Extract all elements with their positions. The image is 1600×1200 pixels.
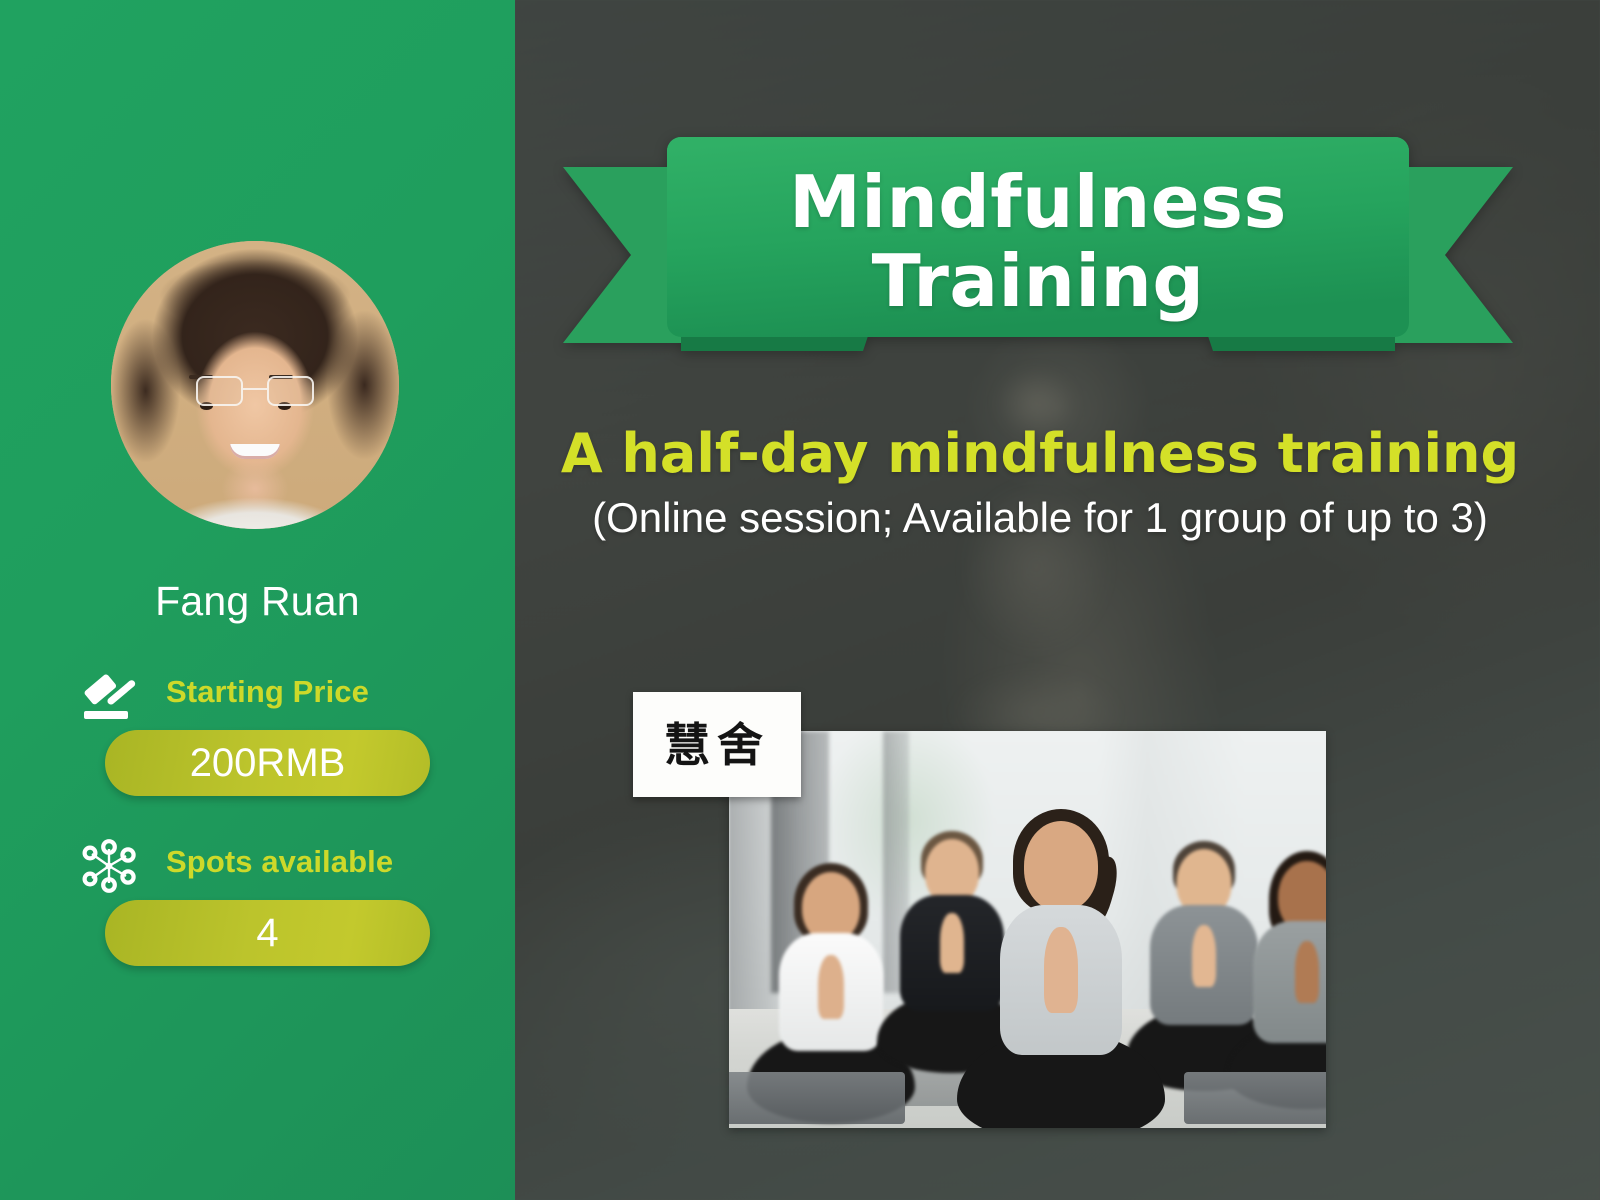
glasses-lens-left [196, 376, 243, 406]
meditator-prayer-hands [1192, 925, 1216, 987]
spots-available-value[interactable]: 4 [105, 900, 430, 966]
meditator-prayer-hands [1044, 927, 1078, 1013]
left-info-panel: Fang Ruan Starting Price 200RMB [0, 0, 515, 1200]
gavel-icon [78, 668, 156, 724]
meditator-prayer-hands [1295, 941, 1319, 1003]
tutor-name: Fang Ruan [0, 578, 515, 625]
hui-she-logo: 慧舍 [633, 692, 801, 797]
spots-available-row: Spots available 4 [0, 838, 515, 894]
spots-network-icon [78, 838, 156, 894]
meditator-head [802, 872, 860, 942]
avatar [111, 241, 399, 529]
meditator-prayer-hands [818, 955, 844, 1019]
avatar-smile [230, 444, 280, 459]
subtitle-main: A half-day mindfulness training [560, 425, 1520, 482]
spots-available-label: Spots available [166, 844, 393, 880]
starting-price-row: Starting Price 200RMB [0, 668, 515, 724]
starting-price-label: Starting Price [166, 674, 369, 710]
group-meditation-photo [729, 731, 1326, 1128]
glasses-lens-right [267, 376, 314, 406]
glasses-bridge [243, 388, 267, 391]
starting-price-header: Starting Price [0, 668, 515, 724]
page-title: Mindfulness Training [563, 163, 1513, 321]
subtitle-note: (Online session; Available for 1 group o… [560, 494, 1520, 543]
avatar-glasses [196, 376, 314, 406]
subtitle-block: A half-day mindfulness training (Online … [560, 425, 1520, 543]
spots-available-header: Spots available [0, 838, 515, 894]
meditator-head [1024, 821, 1098, 911]
poster-canvas: Fang Ruan Starting Price 200RMB [0, 0, 1600, 1200]
meditator-center [961, 809, 1161, 1128]
yoga-mat-right [1184, 1072, 1326, 1124]
logo-glyphs: 慧舍 [664, 722, 770, 768]
starting-price-value[interactable]: 200RMB [105, 730, 430, 796]
title-ribbon: Mindfulness Training [563, 125, 1513, 380]
yoga-mat-left [729, 1072, 905, 1124]
